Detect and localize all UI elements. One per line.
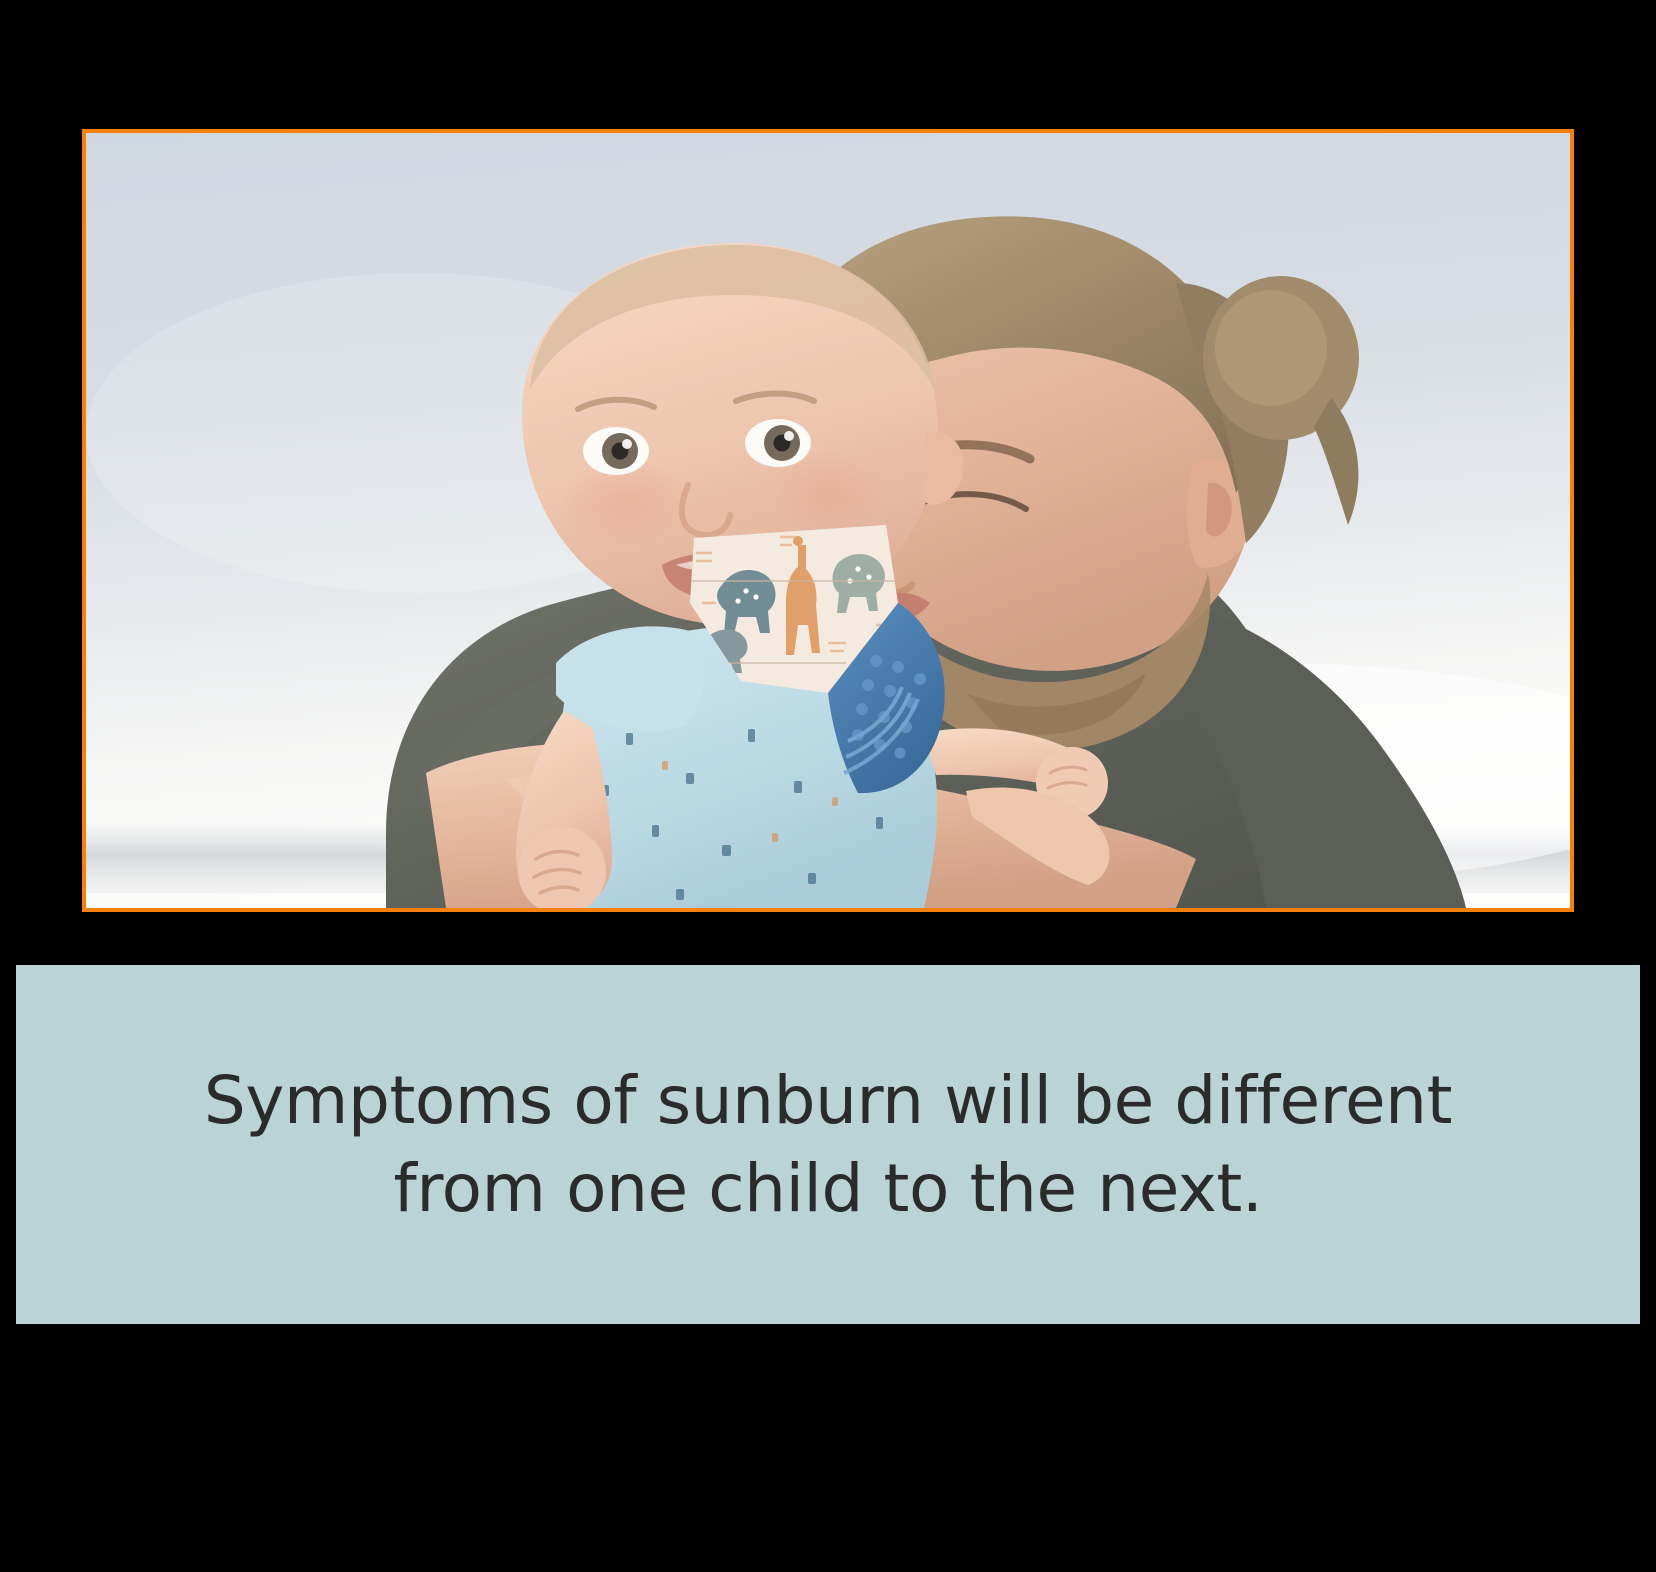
photo-card bbox=[82, 129, 1574, 912]
slide-canvas: Symptoms of sunburn will be different fr… bbox=[0, 0, 1656, 1572]
caption-banner: Symptoms of sunburn will be different fr… bbox=[16, 965, 1640, 1324]
photo-illustration bbox=[86, 133, 1570, 908]
photo-wash bbox=[86, 133, 1570, 908]
caption-text: Symptoms of sunburn will be different fr… bbox=[204, 1057, 1452, 1231]
photo-image bbox=[86, 133, 1570, 908]
